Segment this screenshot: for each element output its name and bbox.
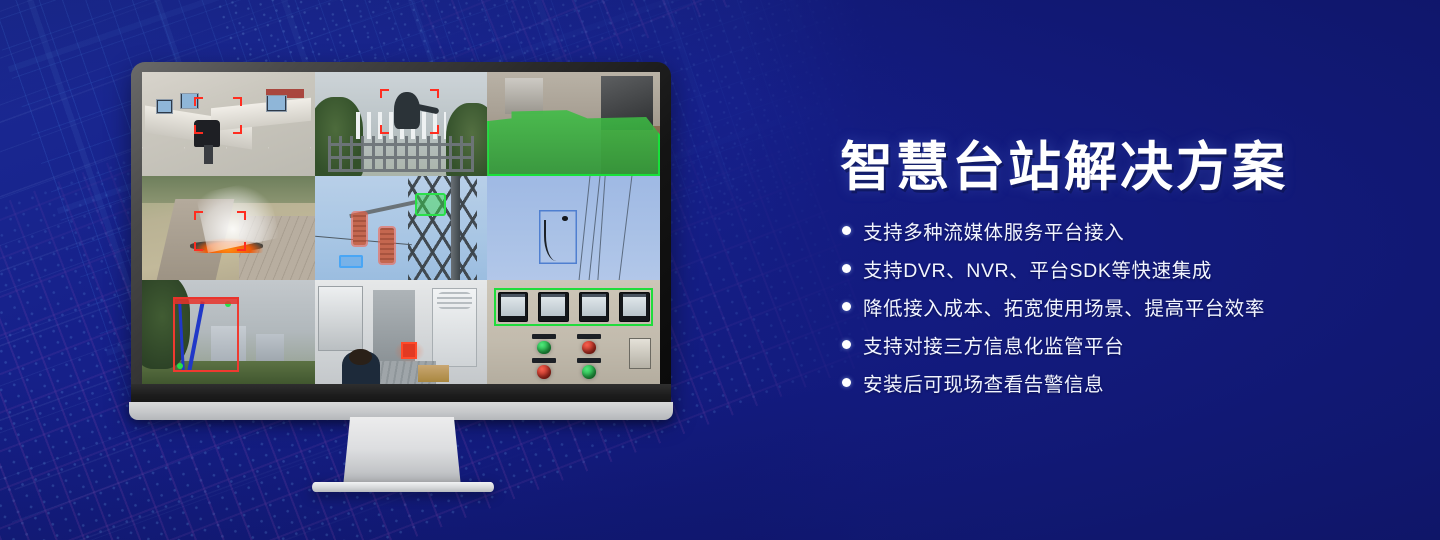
feature-item-label: 支持对接三方信息化监管平台 bbox=[863, 330, 1124, 359]
feature-item-label: 支持多种流媒体服务平台接入 bbox=[863, 216, 1124, 245]
video-feed-control-room[interactable] bbox=[142, 72, 315, 176]
detection-box-gauge-row bbox=[494, 288, 653, 325]
feature-item-label: 支持DVR、NVR、平台SDK等快速集成 bbox=[863, 254, 1212, 283]
feature-item-1: 支持多种流媒体服务平台接入 bbox=[842, 211, 1402, 249]
video-feed-field-fire[interactable] bbox=[142, 176, 315, 280]
bullet-dot-icon bbox=[842, 264, 851, 273]
feature-item-label: 安装后可现场查看告警信息 bbox=[863, 368, 1104, 397]
bullet-dot-icon bbox=[842, 302, 851, 311]
detection-area-polygon bbox=[487, 107, 660, 176]
feature-item-3: 降低接入成本、拓宽使用场景、提高平台效率 bbox=[842, 287, 1402, 325]
feature-item-4: 支持对接三方信息化监管平台 bbox=[842, 325, 1402, 363]
detection-box-alarm-device bbox=[401, 342, 417, 359]
page-title: 智慧台站解决方案 bbox=[840, 141, 1288, 194]
detection-box-foreign-object bbox=[539, 210, 577, 264]
video-wall-grid[interactable] bbox=[142, 72, 660, 384]
video-feed-utility-pole[interactable] bbox=[142, 280, 315, 384]
monitor-illustration bbox=[0, 0, 800, 540]
detection-box-pole-hazard bbox=[173, 297, 239, 372]
video-feed-equipment-room[interactable] bbox=[315, 280, 488, 384]
feature-item-label: 降低接入成本、拓宽使用场景、提高平台效率 bbox=[863, 292, 1265, 321]
feature-item-2: 支持DVR、NVR、平台SDK等快速集成 bbox=[842, 249, 1402, 287]
bullet-dot-icon bbox=[842, 226, 851, 235]
feature-item-5: 安装后可现场查看告警信息 bbox=[842, 363, 1402, 401]
detection-box-tracking bbox=[339, 255, 363, 267]
monitor-stand-neck bbox=[343, 417, 461, 487]
video-feed-perimeter-fence[interactable] bbox=[315, 72, 488, 176]
video-feed-control-panel[interactable] bbox=[487, 280, 660, 384]
video-feed-transmission-tower[interactable] bbox=[315, 176, 488, 280]
content-panel: 智慧台站解决方案 支持多种流媒体服务平台接入 支持DVR、NVR、平台SDK等快… bbox=[840, 0, 1440, 540]
video-feed-overhead-lines[interactable] bbox=[487, 176, 660, 280]
bullet-dot-icon bbox=[842, 378, 851, 387]
video-feed-station-yard[interactable] bbox=[487, 72, 660, 176]
bullet-dot-icon bbox=[842, 340, 851, 349]
banner-root: 智慧台站解决方案 支持多种流媒体服务平台接入 支持DVR、NVR、平台SDK等快… bbox=[0, 0, 1440, 540]
detection-box-tower-area bbox=[415, 193, 446, 216]
feature-list: 支持多种流媒体服务平台接入 支持DVR、NVR、平台SDK等快速集成 降低接入成… bbox=[842, 211, 1402, 401]
monitor-stand-base bbox=[312, 482, 494, 492]
